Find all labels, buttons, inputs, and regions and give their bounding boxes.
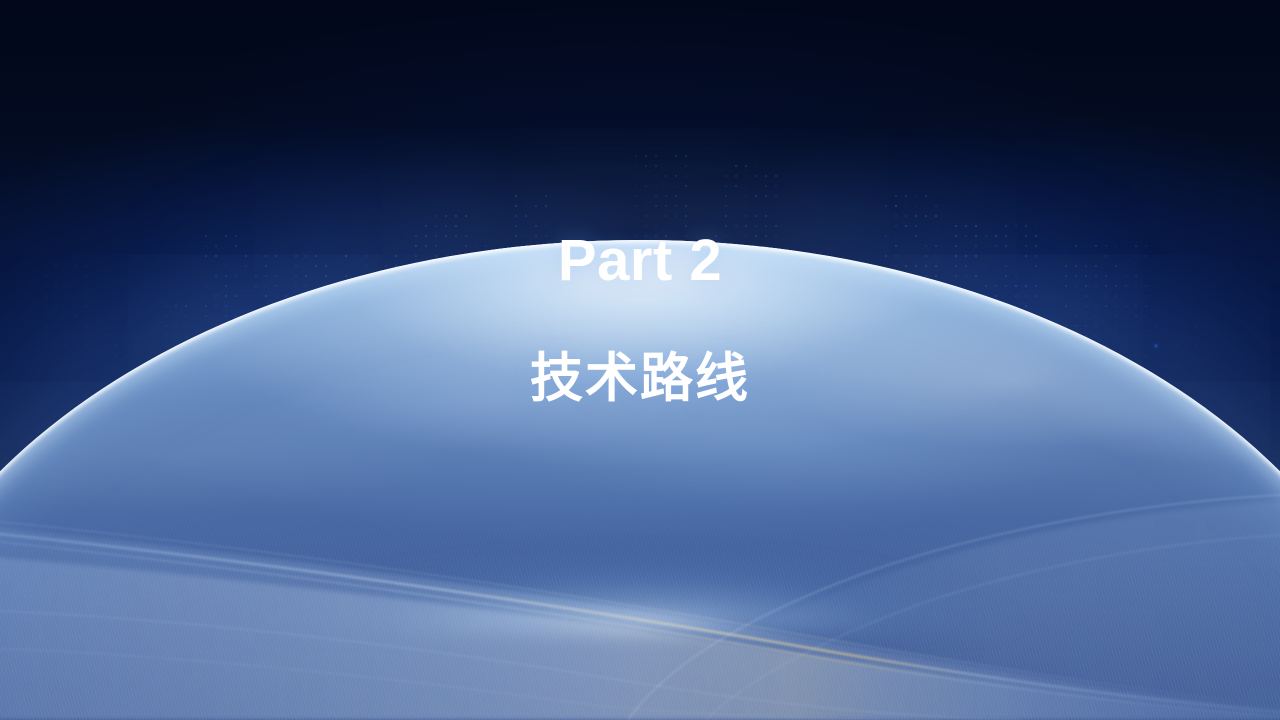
slide-text-block: Part 2 技术路线 — [0, 232, 1280, 405]
page-title: Part 2 — [0, 232, 1280, 290]
presentation-slide: Part 2 技术路线 — [0, 0, 1280, 720]
section-subtitle: 技术路线 — [0, 352, 1280, 405]
ribbon-mesh-texture — [0, 490, 1280, 720]
